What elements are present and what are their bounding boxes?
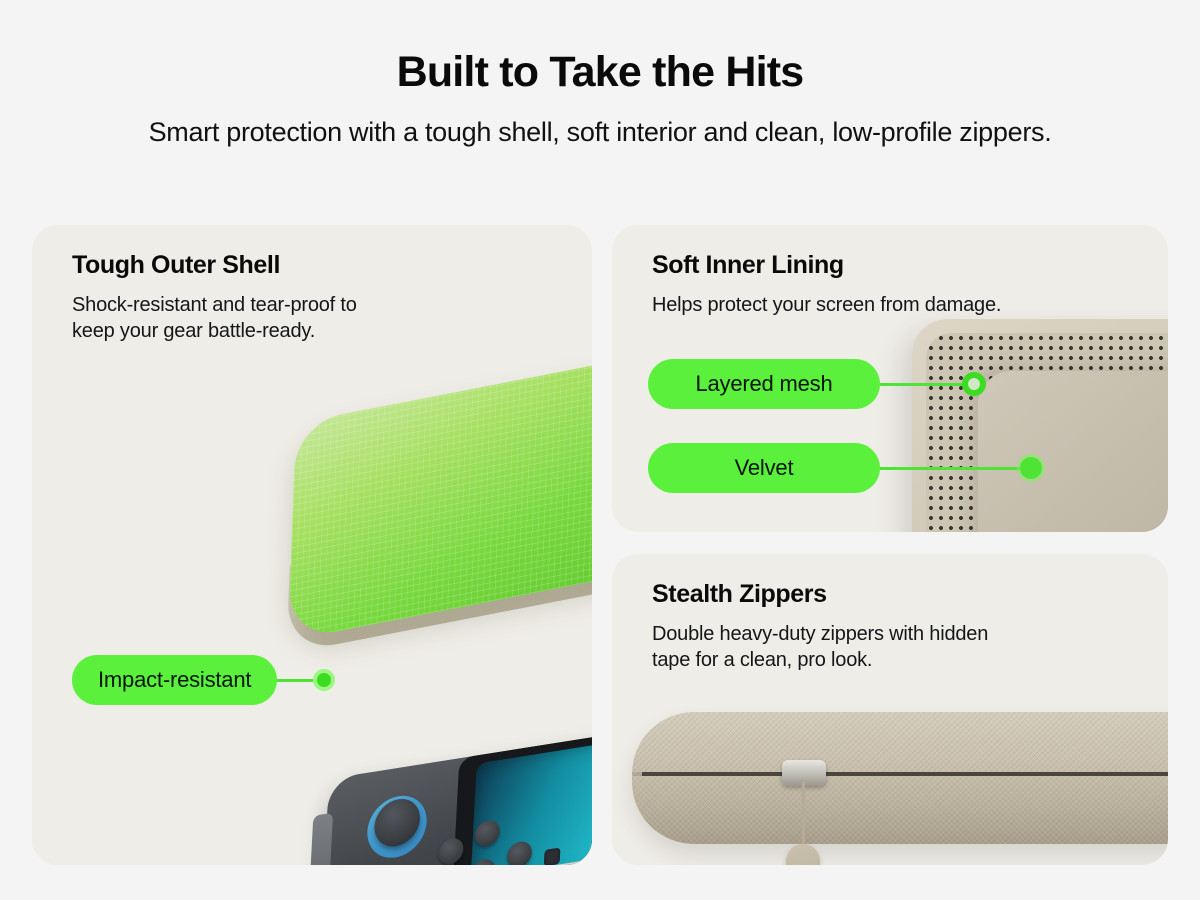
- card-header-tough-outer-shell: Tough Outer Shell Shock-resistant and te…: [32, 225, 592, 345]
- card-description: Helps protect your screen from damage.: [652, 292, 1168, 318]
- card-title: Soft Inner Lining: [652, 250, 1168, 280]
- callout-label: Layered mesh: [648, 359, 880, 409]
- joycon-rail: [308, 813, 333, 865]
- card-header-stealth-zippers: Stealth Zippers Double heavy-duty zipper…: [612, 554, 1168, 674]
- callout-leader-line: [880, 467, 1022, 470]
- callout-marker-dot: [1020, 457, 1042, 479]
- card-title: Tough Outer Shell: [72, 250, 592, 280]
- zipper-pull-cord: [802, 782, 805, 850]
- analog-stick: [366, 792, 428, 863]
- card-description: Double heavy-duty zippers with hidden ta…: [652, 621, 1168, 674]
- feature-card-grid: Tough Outer Shell Shock-resistant and te…: [32, 225, 1168, 865]
- callout-label: Impact-resistant: [72, 655, 277, 705]
- card-header-soft-inner-lining: Soft Inner Lining Helps protect your scr…: [612, 225, 1168, 318]
- feature-card-tough-outer-shell[interactable]: Tough Outer Shell Shock-resistant and te…: [32, 225, 592, 865]
- infographic-page: Built to Take the Hits Smart protection …: [0, 0, 1200, 900]
- callout-marker-dot: [313, 669, 335, 691]
- zipper-pull-tab: [786, 844, 820, 865]
- callout-layered-mesh[interactable]: Layered mesh: [648, 359, 986, 409]
- feature-card-soft-inner-lining[interactable]: Soft Inner Lining Helps protect your scr…: [612, 225, 1168, 532]
- callout-marker-dot: [962, 372, 986, 396]
- callout-leader-line: [277, 679, 315, 682]
- card-description: Shock-resistant and tear-proof to keep y…: [72, 292, 592, 345]
- callout-impact-resistant[interactable]: Impact-resistant: [72, 655, 335, 705]
- header: Built to Take the Hits Smart protection …: [0, 48, 1200, 150]
- feature-card-stealth-zippers[interactable]: Stealth Zippers Double heavy-duty zipper…: [612, 554, 1168, 865]
- zipper-track: [632, 772, 1168, 776]
- callout-velvet[interactable]: Velvet: [648, 443, 1042, 493]
- home-button: [544, 848, 561, 865]
- handheld-console: [319, 727, 592, 865]
- case-side-profile: [632, 712, 1168, 844]
- page-title: Built to Take the Hits: [0, 48, 1200, 96]
- page-subtitle: Smart protection with a tough shell, sof…: [0, 114, 1200, 150]
- callout-leader-line: [880, 383, 964, 386]
- callout-label: Velvet: [648, 443, 880, 493]
- card-title: Stealth Zippers: [652, 579, 1168, 609]
